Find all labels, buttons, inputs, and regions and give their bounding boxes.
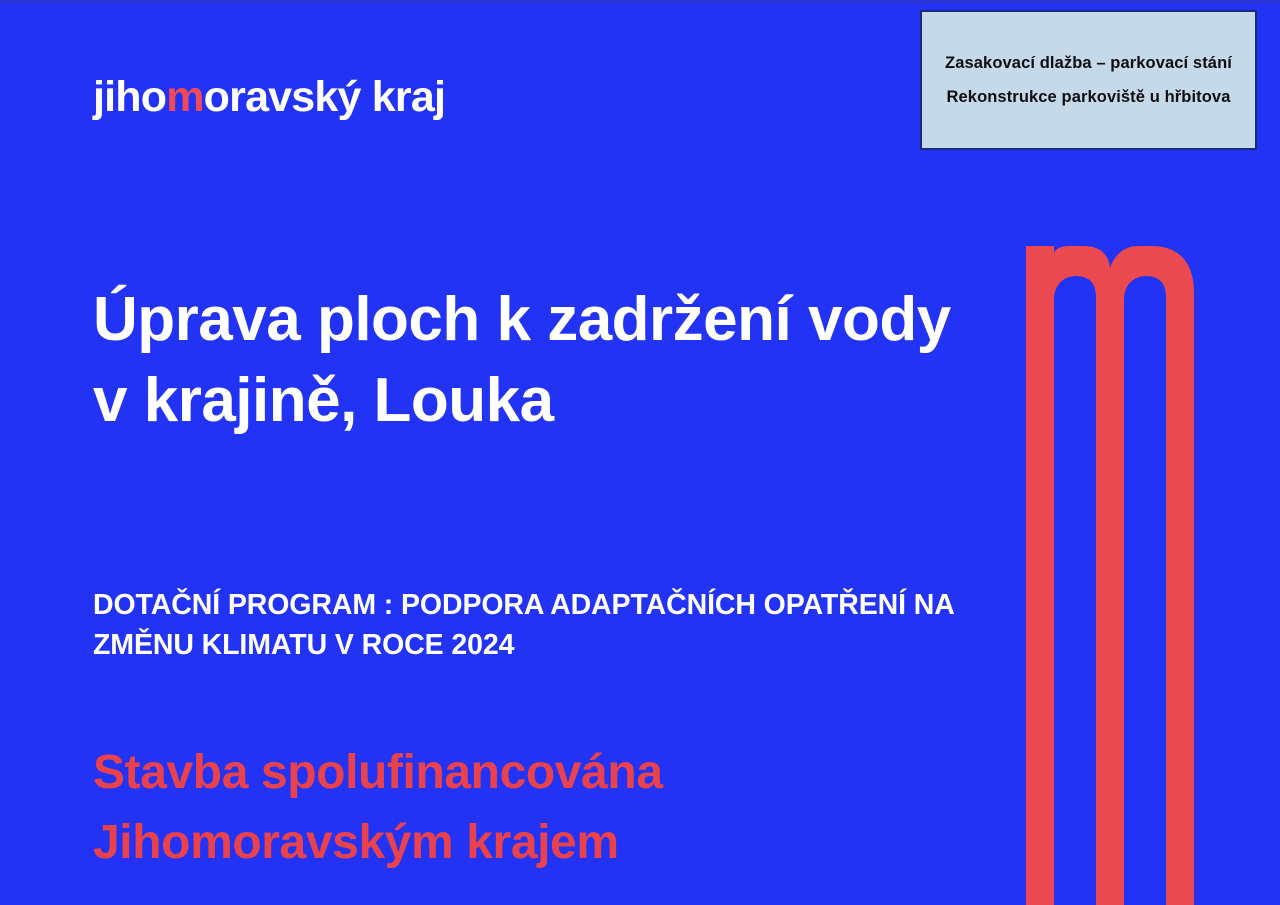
brand-logo-accent-letter: m [166,73,203,121]
slide-headline: Úprava ploch k zadržení vody v krajině, … [93,280,973,441]
cofinancing-statement: Stavba spolufinancována Jihomoravským kr… [93,738,973,878]
project-info-badge: Zasakovací dlažba – parkovací stání Reko… [920,10,1257,150]
top-edge-strip [0,0,1280,4]
brand-logo-part-two: oravský kraj [204,73,445,121]
badge-line-project-subtitle: Rekonstrukce parkoviště u hřbitova [947,87,1231,107]
badge-line-project-name: Zasakovací dlažba – parkovací stání [945,53,1232,73]
subsidy-program-label: DOTAČNÍ PROGRAM : PODPORA ADAPTAČNÍCH OP… [93,585,973,666]
letter-m-monogram-icon [1026,246,1194,905]
brand-logo: jihomoravský kraj [93,76,445,119]
brand-logo-part-one: jiho [93,73,166,121]
